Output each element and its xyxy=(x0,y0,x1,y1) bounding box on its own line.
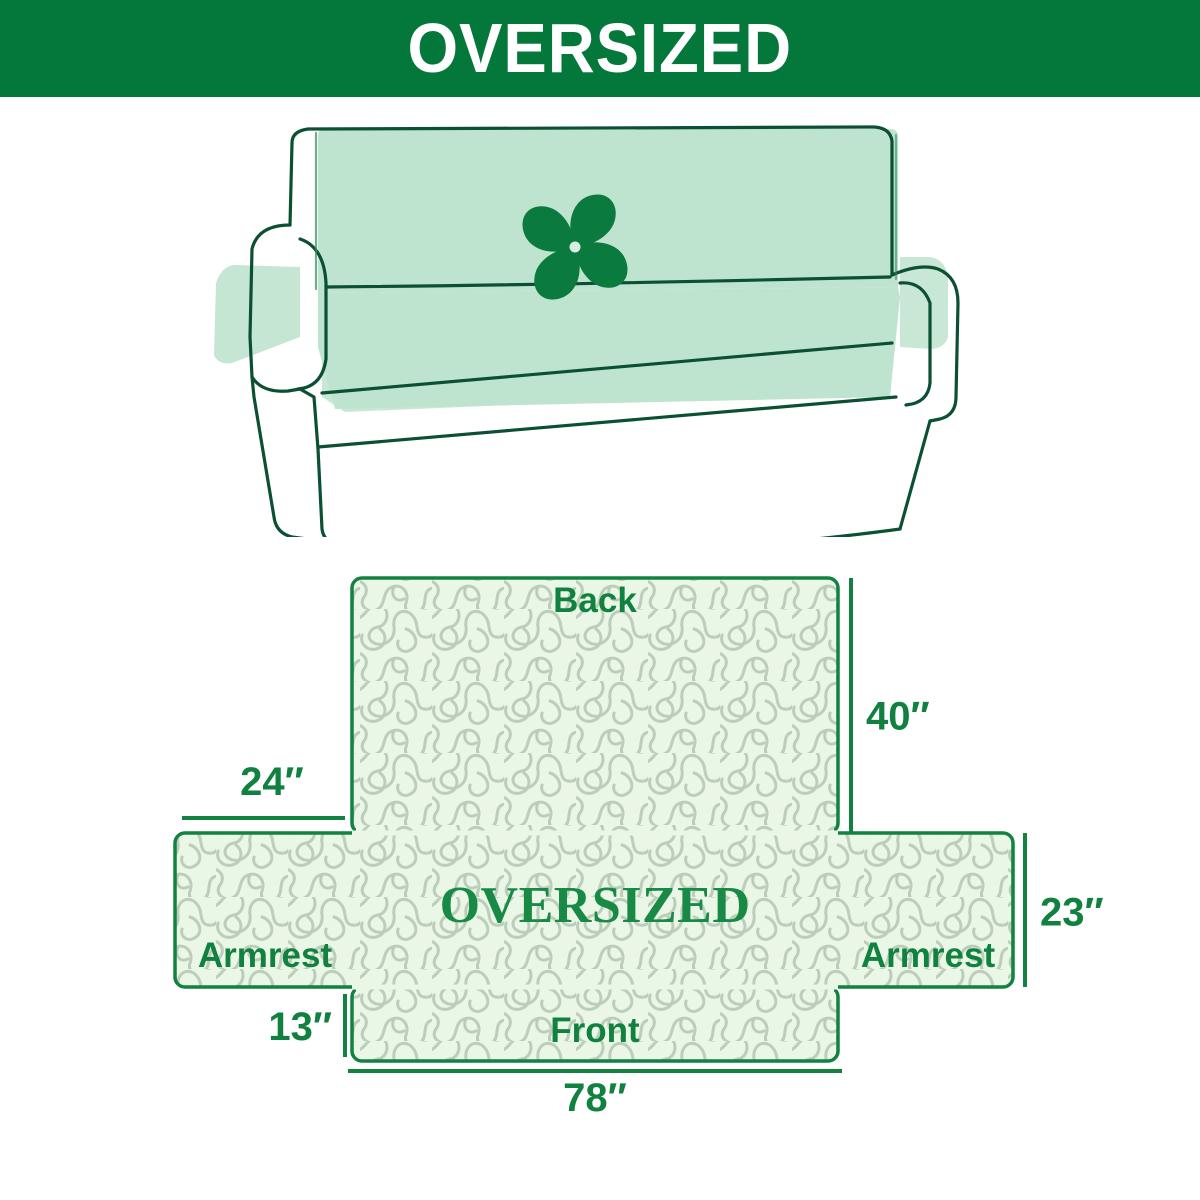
dimension-armrest-offset-label: 24″ xyxy=(240,760,304,804)
back-panel-label: Back xyxy=(553,581,637,620)
dimension-front-drop-label: 13″ xyxy=(268,1005,332,1049)
flat-pattern-diagram: Back Armrest Armrest Front OVERSIZED 40″… xyxy=(0,537,1200,1200)
dimension-back-height-label: 40″ xyxy=(866,695,930,739)
armrest-panel-right-label: Armrest xyxy=(861,936,996,975)
flat-pattern-diagram-panel: Back Armrest Armrest Front OVERSIZED 40″… xyxy=(0,537,1200,1200)
page-title: OVERSIZED xyxy=(408,13,793,83)
front-panel-label: Front xyxy=(550,1011,640,1050)
sofa-illustration xyxy=(0,97,1200,537)
armrest-panel-left-label: Armrest xyxy=(198,936,333,975)
sofa-illustration-panel xyxy=(0,97,1200,537)
dimension-armrest-height-label: 23″ xyxy=(1040,891,1104,935)
diagram-center-label: OVERSIZED xyxy=(440,877,751,934)
dimension-total-width-label: 78″ xyxy=(563,1076,627,1120)
header-banner: OVERSIZED xyxy=(0,0,1200,97)
pinwheel-fan-icon xyxy=(520,192,631,303)
